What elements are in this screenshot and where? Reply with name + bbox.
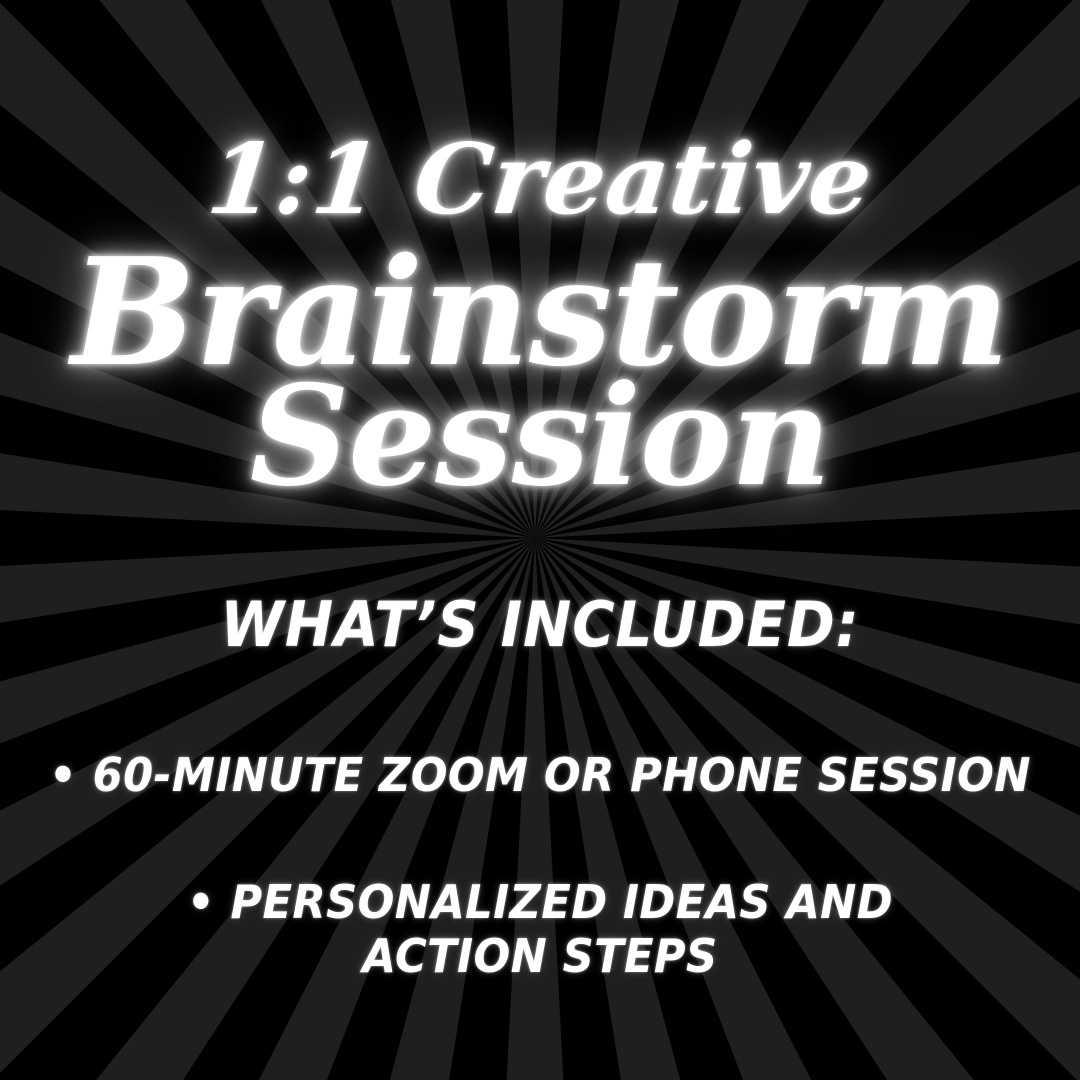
whats-included-heading: WHAT’S INCLUDED: bbox=[38, 594, 1042, 656]
included-bullet-list: • 60-MINUTE ZOOM OR PHONE SESSION • PERS… bbox=[0, 748, 1080, 983]
list-item-label: PERSONALIZED IDEAS AND ACTION STEPS bbox=[230, 875, 893, 983]
poster-content: 1:1 Creative Brainstorm Session WHAT’S I… bbox=[0, 0, 1080, 1080]
headline-block: 1:1 Creative Brainstorm Session bbox=[0, 132, 1080, 502]
bullet-point-icon: • bbox=[49, 748, 77, 802]
list-item: • 60-MINUTE ZOOM OR PHONE SESSION bbox=[32, 748, 1047, 802]
bullet-point-icon: • bbox=[187, 875, 215, 929]
poster-canvas: 1:1 Creative Brainstorm Session WHAT’S I… bbox=[0, 0, 1080, 1080]
headline-line-one: 1:1 Creative bbox=[0, 132, 1080, 227]
details-block: WHAT’S INCLUDED: • 60-MINUTE ZOOM OR PHO… bbox=[0, 594, 1080, 983]
list-item-label: 60-MINUTE ZOOM OR PHONE SESSION bbox=[93, 748, 1031, 802]
list-item: • PERSONALIZED IDEAS AND ACTION STEPS bbox=[32, 875, 1047, 984]
